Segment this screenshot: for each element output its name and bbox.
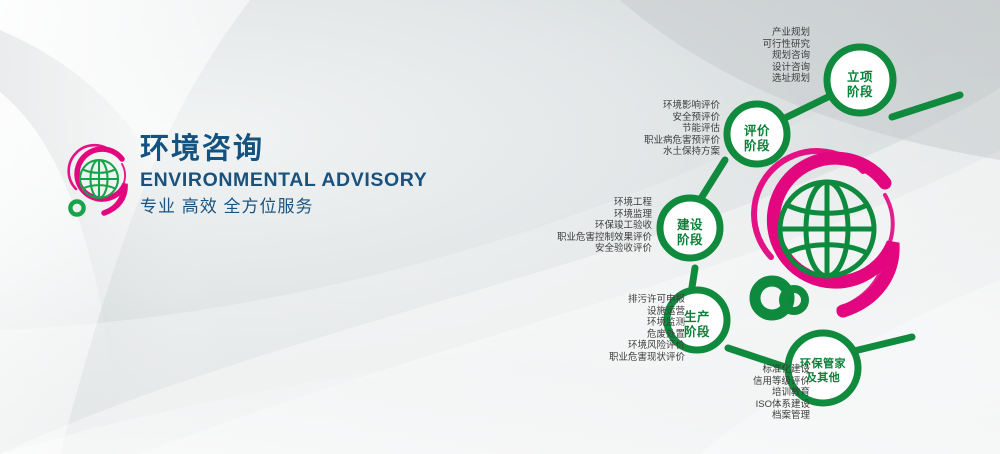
page-title: 环境咨询: [140, 132, 485, 166]
list-item: 环境工程: [480, 197, 652, 209]
list-item: 安全预评价: [530, 112, 720, 124]
list-item: 培训教育: [645, 387, 810, 399]
list-item: 信用等级评价: [645, 376, 810, 388]
list-item: 排污许可申报: [495, 294, 685, 306]
service-list-construction: 环境工程 环境监理 环保竣工验收 职业危害控制效果评价 安全验收评价: [480, 197, 652, 255]
service-list-production: 排污许可申报 设施运营 环境监测 危废处置 环境风险评价 职业危害现状评价: [495, 294, 685, 364]
list-item: 安全验收评价: [480, 243, 652, 255]
list-item: 危废处置: [495, 329, 685, 341]
brand-block: 环境咨询 ENVIRONMENTAL ADVISORY 专业 高效 全方位服务: [62, 132, 482, 242]
banner-canvas: 环境咨询 ENVIRONMENTAL ADVISORY 专业 高效 全方位服务: [0, 0, 1000, 454]
service-list-initiation: 产业规划 可行性研究 规划咨询 设计咨询 选址规划: [630, 27, 810, 85]
accent-ring-icon: [783, 289, 805, 311]
list-item: 水土保持方案: [530, 146, 720, 158]
list-item: 规划咨询: [630, 50, 810, 62]
list-item: 选址规划: [630, 73, 810, 85]
service-list-evaluation: 环境影响评价 安全预评价 节能评估 职业病危害预评价 水土保持方案: [530, 100, 720, 158]
connector-right-top: [892, 95, 960, 117]
process-diagram: 立项 阶段 评价 阶段 建设 阶段 生产 阶段 环保管家 及其他 产业规划 可行…: [540, 0, 1000, 454]
globe-swoosh-logo: [62, 137, 140, 223]
list-item: 档案管理: [645, 410, 810, 422]
list-item: 设施运营: [495, 306, 685, 318]
list-item: 环境影响评价: [530, 100, 720, 112]
list-item: 节能评估: [530, 123, 720, 135]
connector-evaluation-construction: [700, 160, 725, 200]
list-item: 环境监测: [495, 317, 685, 329]
list-item: 职业病危害预评价: [530, 135, 720, 147]
list-item: 职业危害现状评价: [495, 352, 685, 364]
connector-right-bottom: [850, 337, 912, 352]
connector-initiation-evaluation: [785, 97, 828, 118]
list-item: 设计咨询: [630, 62, 810, 74]
list-item: 标准化建设: [645, 364, 810, 376]
list-item: 环保竣工验收: [480, 220, 652, 232]
page-slogan: 专业 高效 全方位服务: [140, 194, 485, 220]
list-item: 环境风险评价: [495, 340, 685, 352]
list-item: 产业规划: [630, 27, 810, 39]
list-item: ISO体系建设: [645, 399, 810, 411]
list-item: 可行性研究: [630, 39, 810, 51]
list-item: 职业危害控制效果评价: [480, 232, 652, 244]
list-item: 环境监理: [480, 209, 652, 221]
brand-text-group: 环境咨询 ENVIRONMENTAL ADVISORY 专业 高效 全方位服务: [140, 132, 485, 220]
service-list-stewardship: 标准化建设 信用等级评价 培训教育 ISO体系建设 档案管理: [645, 364, 810, 422]
page-subtitle-en: ENVIRONMENTAL ADVISORY: [140, 168, 485, 192]
